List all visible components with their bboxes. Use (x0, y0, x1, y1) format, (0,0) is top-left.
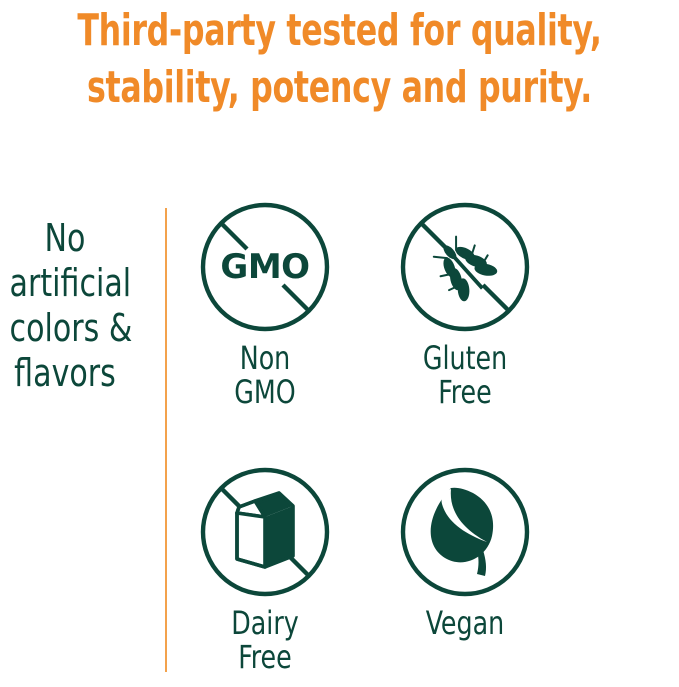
badge-non-gmo-label-line-1: Non (177, 341, 353, 375)
badge-dairy-free-label-line-2: Free (177, 640, 353, 674)
leaf-icon (431, 488, 493, 576)
no-artificial-line-1: No (10, 216, 121, 261)
badge-dairy-free-label-line-1: Dairy (177, 606, 353, 640)
dairy-free-icon (195, 462, 335, 602)
vegan-icon (395, 462, 535, 602)
badge-non-gmo: GMO Non GMO (165, 197, 365, 409)
no-artificial-line-4: flavors (10, 351, 121, 396)
slash-segment-lower (283, 285, 309, 311)
non-gmo-icon: GMO (195, 197, 335, 337)
no-artificial-line-3: colors & (10, 306, 121, 351)
slash-segment-upper (222, 224, 248, 250)
badge-dairy-free-label: Dairy Free (177, 606, 353, 674)
headline: Third-party tested for quality, stabilit… (68, 2, 611, 116)
badge-non-gmo-label: Non GMO (177, 341, 353, 409)
no-artificial-line-2: artificial (10, 261, 121, 306)
headline-line-2: stability, potency and purity. (68, 59, 611, 116)
slash-segment-upper (422, 224, 448, 250)
badge-gluten-free-label-line-1: Gluten (377, 341, 553, 375)
badge-dairy-free: Dairy Free (165, 462, 365, 674)
no-artificial-claim: No artificial colors & flavors (10, 216, 121, 396)
badge-gluten-free-label: Gluten Free (377, 341, 553, 409)
badge-gluten-free-label-line-2: Free (377, 375, 553, 409)
slash-segment-lower (483, 285, 509, 311)
badge-vegan-label: Vegan (377, 606, 553, 640)
badge-vegan-label-line-1: Vegan (377, 606, 553, 640)
gmo-text: GMO (220, 247, 309, 287)
badge-gluten-free: Gluten Free (365, 197, 565, 409)
badge-non-gmo-label-line-2: GMO (177, 375, 353, 409)
headline-line-1: Third-party tested for quality, (68, 2, 611, 59)
milk-carton-icon (237, 493, 293, 567)
badge-vegan: Vegan (365, 462, 565, 640)
gluten-free-icon (395, 197, 535, 337)
